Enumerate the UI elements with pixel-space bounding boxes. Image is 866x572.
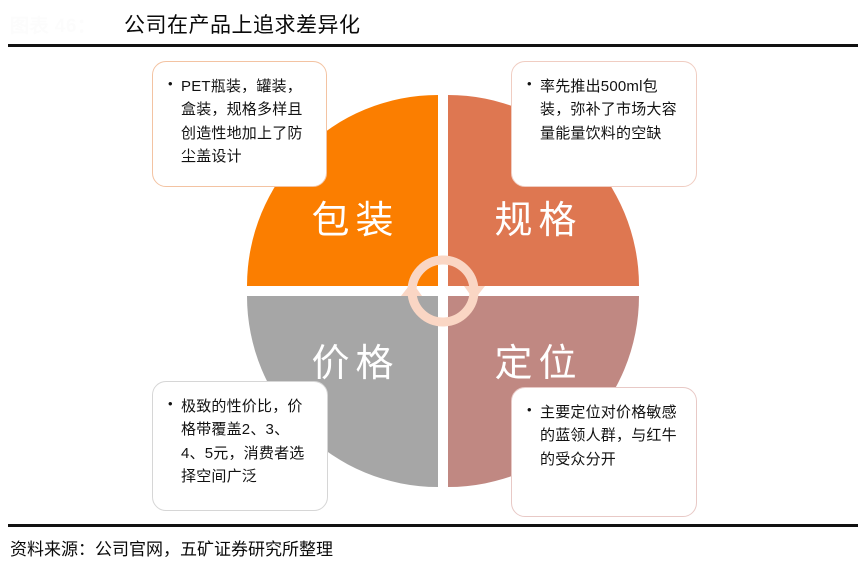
callout-price: 极致的性价比，价格带覆盖2、3、4、5元，消费者选择空间广泛 [152,381,328,511]
callout-text-packaging: PET瓶装，罐装，盒装，规格多样且创造性地加上了防尘盖设计 [181,75,312,168]
quadrant-label-specification: 规格 [488,202,582,240]
figure-number: 图表 46： [10,11,96,38]
quadrant-label-packaging: 包装 [305,202,399,240]
footer-divider [8,524,858,527]
source-note: 资料来源：公司官网，五矿证券研究所整理 [10,535,333,560]
callout-text-price: 极致的性价比，价格带覆盖2、3、4、5元，消费者选择空间广泛 [181,395,313,488]
quadrant-label-price: 价格 [305,345,399,383]
callout-text-specification: 率先推出500ml包装，弥补了市场大容量能量饮料的空缺 [540,75,682,145]
callout-packaging: PET瓶装，罐装，盒装，规格多样且创造性地加上了防尘盖设计 [152,61,327,187]
header: 图表 46： 公司在产品上追求差异化 [0,0,866,44]
callout-specification: 率先推出500ml包装，弥补了市场大容量能量饮料的空缺 [511,61,697,187]
diagram-stage: 包装 规格 价格 定位 PET瓶装，罐装，盒装，规格多样且创造性地加上了防尘盖设… [0,47,866,524]
callout-positioning: 主要定位对价格敏感的蓝领人群，与红牛的受众分开 [511,387,697,517]
callout-text-positioning: 主要定位对价格敏感的蓝领人群，与红牛的受众分开 [540,401,682,471]
quadrant-label-positioning: 定位 [488,345,582,383]
page-title: 公司在产品上追求差异化 [124,9,361,39]
